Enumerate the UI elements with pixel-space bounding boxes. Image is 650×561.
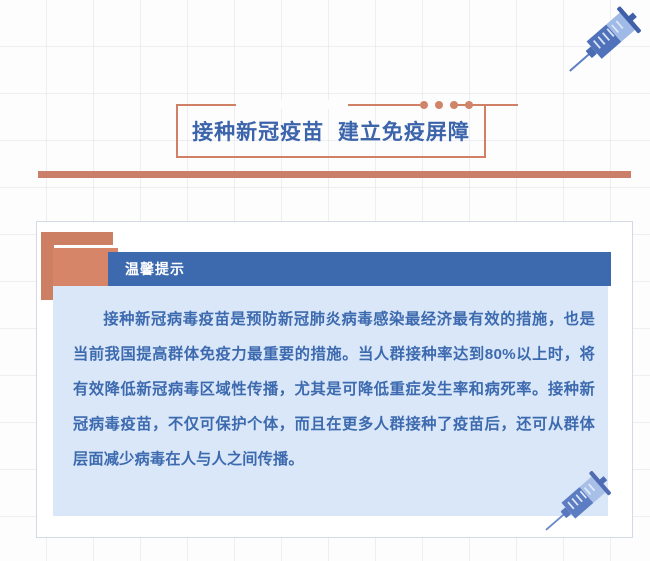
page-title: 接种新冠疫苗 建立免疫屏障 — [176, 104, 486, 158]
divider-rule — [38, 171, 631, 178]
syringe-icon — [556, 6, 648, 82]
headline-block: 接种新冠疫苗 建立免疫屏障 — [176, 104, 486, 158]
notice-body-text: 接种新冠病毒疫苗是预防新冠肺炎病毒感染最经济最有效的措施，也是当前我国提高群体免… — [73, 302, 595, 477]
notice-banner: 温馨提示 — [108, 252, 611, 286]
poster-canvas: 接种新冠疫苗 建立免疫屏障 温馨提示 接种新冠病毒疫苗是预防新冠肺炎病毒感染最经… — [0, 0, 650, 561]
dot-tail-line — [482, 104, 518, 106]
notice-banner-label: 温馨提示 — [125, 259, 185, 279]
